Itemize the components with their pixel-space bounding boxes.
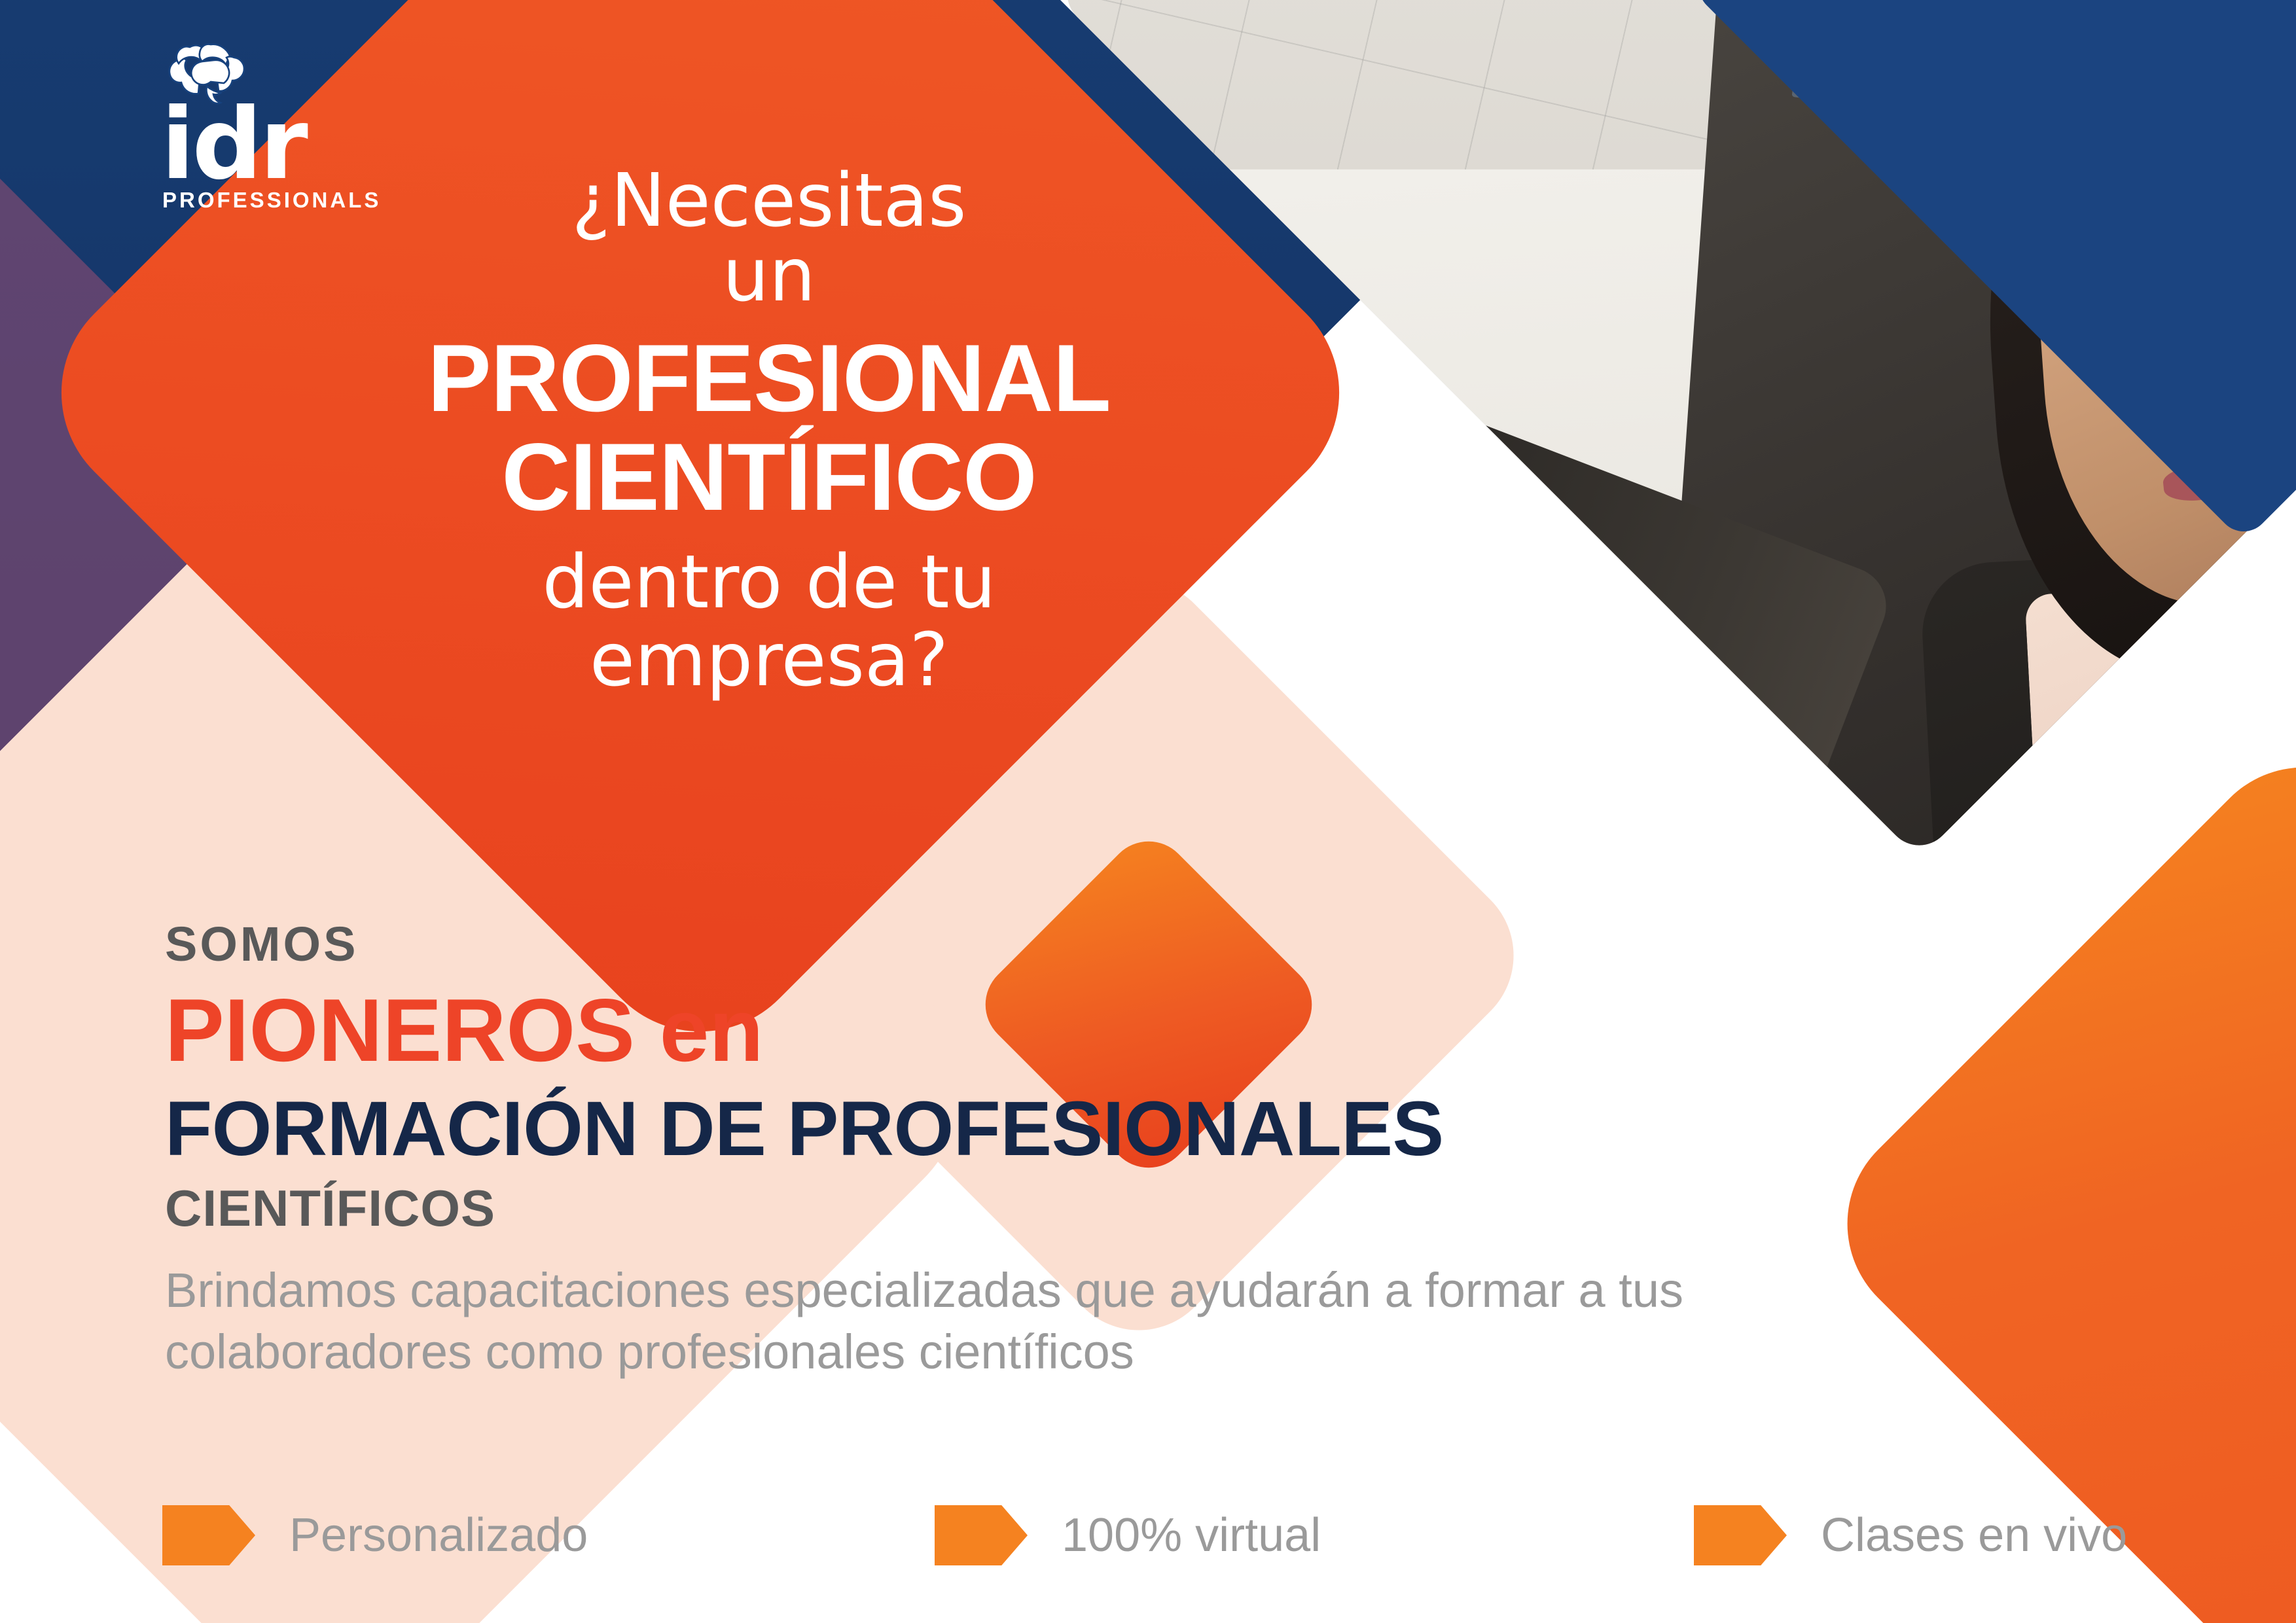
feature-badges: Personalizado 100% virtual Clases en viv… — [162, 1505, 2165, 1565]
badge-label: 100% virtual — [1062, 1508, 1321, 1562]
copy-highlight: PIONEROS en — [165, 983, 1749, 1077]
logo-wordmark: idr — [152, 105, 387, 185]
headline-line-2: un — [399, 238, 1139, 313]
badge-personalizado[interactable]: Personalizado — [162, 1505, 935, 1565]
badge-label: Personalizado — [289, 1508, 588, 1562]
headline-line-1: ¿Necesitas — [399, 164, 1139, 238]
badge-label: Clases en vivo — [1821, 1508, 2127, 1562]
photo-woman-hand-upper — [1764, 840, 1990, 859]
idr-logo[interactable]: idr PROFESSIONALS — [152, 41, 387, 213]
arrow-marker-icon — [162, 1505, 255, 1565]
logo-tagline: PROFESSIONALS — [152, 188, 387, 213]
headline-line-4: CIENTÍFICO — [399, 427, 1139, 527]
arrow-marker-icon — [935, 1505, 1028, 1565]
copy-subtitle: CIENTÍFICOS — [165, 1181, 1749, 1237]
photo-phone — [1623, 716, 1750, 785]
badge-virtual[interactable]: 100% virtual — [935, 1505, 1694, 1565]
copy-block: SOMOS PIONEROS en FORMACIÓN DE PROFESION… — [165, 920, 1749, 1382]
badge-clases-en-vivo[interactable]: Clases en vivo — [1694, 1505, 2165, 1565]
headline-line-5: dentro de tu — [399, 544, 1139, 622]
headline-block: ¿Necesitas un PROFESIONAL CIENTÍFICO den… — [399, 164, 1139, 700]
copy-eyebrow: SOMOS — [165, 920, 1749, 969]
orange-right-diamond — [1804, 724, 2296, 1623]
copy-title: FORMACIÓN DE PROFESIONALES — [165, 1088, 1749, 1171]
headline-line-6: empresa? — [399, 622, 1139, 700]
arrow-marker-icon — [1694, 1505, 1787, 1565]
photo-desk-object — [1480, 651, 1589, 798]
poster-canvas: idr PROFESSIONALS ¿Necesitas un PROFESIO… — [0, 0, 2296, 1623]
headline-line-3: PROFESIONAL — [399, 330, 1139, 427]
copy-body: Brindamos capacitaciones especializadas … — [165, 1260, 1749, 1382]
